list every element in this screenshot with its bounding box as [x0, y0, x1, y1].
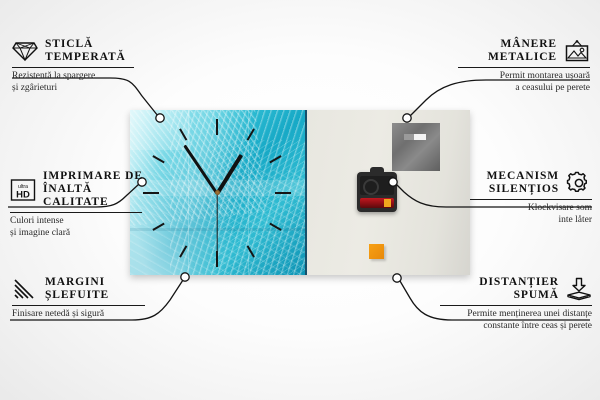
callout-subtitle: Culori intense și imagine clară: [10, 216, 150, 239]
callout-title: MECANISM SILENȚIOS: [487, 170, 559, 196]
leader-dot-distantier: [393, 274, 401, 282]
callout-rule: [12, 67, 134, 68]
callout-subtitle: Finisare netedă și sigură: [12, 309, 152, 321]
clock-tick: [152, 192, 217, 231]
clock-center-pin: [215, 190, 220, 195]
callout-title: STICLĂ TEMPERATĂ: [45, 38, 126, 64]
callout-mecanism-silentios: MECANISM SILENȚIOS Klockvisare som inte …: [470, 170, 592, 226]
callout-sticla-temperata: STICLĂ TEMPERATĂ Rezistentă la spargere …: [12, 38, 142, 94]
callout-rule: [470, 199, 592, 200]
callout-subtitle: Permit montarea ușoară a ceasului pe per…: [458, 71, 590, 94]
mechanism-hook-tab: [370, 167, 384, 174]
clock-face: [130, 110, 307, 275]
framed-picture-hanging-icon: [564, 39, 590, 63]
callout-title: MARGINI ȘLEFUITE: [45, 276, 109, 302]
callout-header: MÂNERE METALICE: [458, 38, 590, 64]
metal-hanger-plate: [392, 123, 440, 171]
callout-rule: [458, 67, 590, 68]
callout-header: ultra HD IMPRIMARE DE ÎNALTĂ CALITATE: [10, 170, 150, 209]
clock-back-panel: [307, 110, 470, 275]
polished-edges-icon: [12, 278, 38, 300]
quartz-clock-mechanism: [357, 172, 397, 212]
mechanism-body: [360, 176, 394, 195]
callout-header: MARGINI ȘLEFUITE: [12, 276, 152, 302]
callout-rule: [440, 305, 592, 306]
infographic-canvas: STICLĂ TEMPERATĂ Rezistentă la spargere …: [0, 0, 600, 400]
svg-text:HD: HD: [16, 189, 30, 200]
callout-title: IMPRIMARE DE ÎNALTĂ CALITATE: [43, 170, 150, 209]
callout-margini-slefuite: MARGINI ȘLEFUITE Finisare netedă și sigu…: [12, 276, 152, 321]
callout-subtitle: Permite menținerea unei distanțe constan…: [440, 309, 592, 332]
callout-distantier-spuma: DISTANȚIER SPUMĂ Permite menținerea unei…: [440, 276, 592, 332]
callout-subtitle: Rezistentă la spargere și zgârieturi: [12, 71, 142, 94]
callout-rule: [12, 305, 145, 306]
callout-header: DISTANȚIER SPUMĂ: [440, 276, 592, 302]
callout-header: STICLĂ TEMPERATĂ: [12, 38, 142, 64]
product-photo: [130, 110, 470, 275]
clock-tick: [143, 192, 217, 194]
callout-subtitle: Klockvisare som inte låter: [470, 203, 592, 226]
callout-manere-metalice: MÂNERE METALICE Permit montarea ușoară a…: [458, 38, 590, 94]
orange-foam-spacer: [369, 244, 384, 259]
diamond-icon: [12, 40, 38, 62]
callout-rule: [10, 212, 142, 213]
clock-tick: [217, 192, 291, 194]
aa-battery: [360, 198, 394, 208]
callout-title: DISTANȚIER SPUMĂ: [479, 276, 559, 302]
arrow-down-onto-pad-icon: [566, 277, 592, 301]
callout-imprimare-inalta-calitate: ultra HD IMPRIMARE DE ÎNALTĂ CALITATE Cu…: [10, 170, 150, 239]
clock-second-hand: [216, 193, 217, 255]
gear-icon: [566, 171, 592, 195]
callout-header: MECANISM SILENȚIOS: [470, 170, 592, 196]
callout-title: MÂNERE METALICE: [488, 38, 557, 64]
ultra-hd-icon: ultra HD: [10, 178, 36, 202]
clock-tick: [216, 119, 218, 193]
